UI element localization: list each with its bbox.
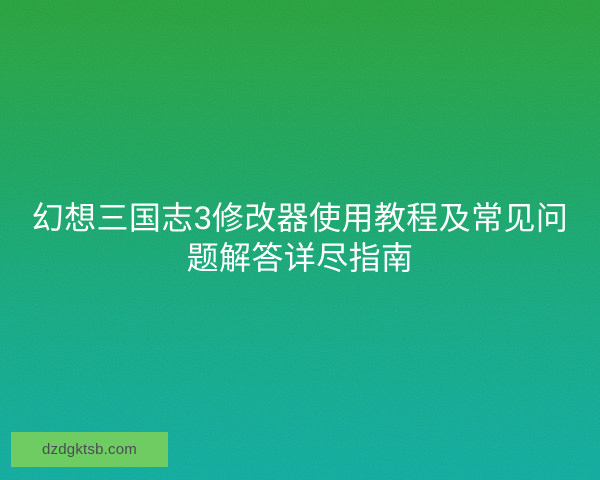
watermark-badge: dzdgktsb.com xyxy=(11,432,168,467)
promo-banner-canvas: 幻想三国志3修改器使用教程及常见问题解答详尽指南 dzdgktsb.com xyxy=(0,0,600,480)
watermark-badge-label: dzdgktsb.com xyxy=(42,442,137,457)
page-title: 幻想三国志3修改器使用教程及常见问题解答详尽指南 xyxy=(0,198,600,278)
